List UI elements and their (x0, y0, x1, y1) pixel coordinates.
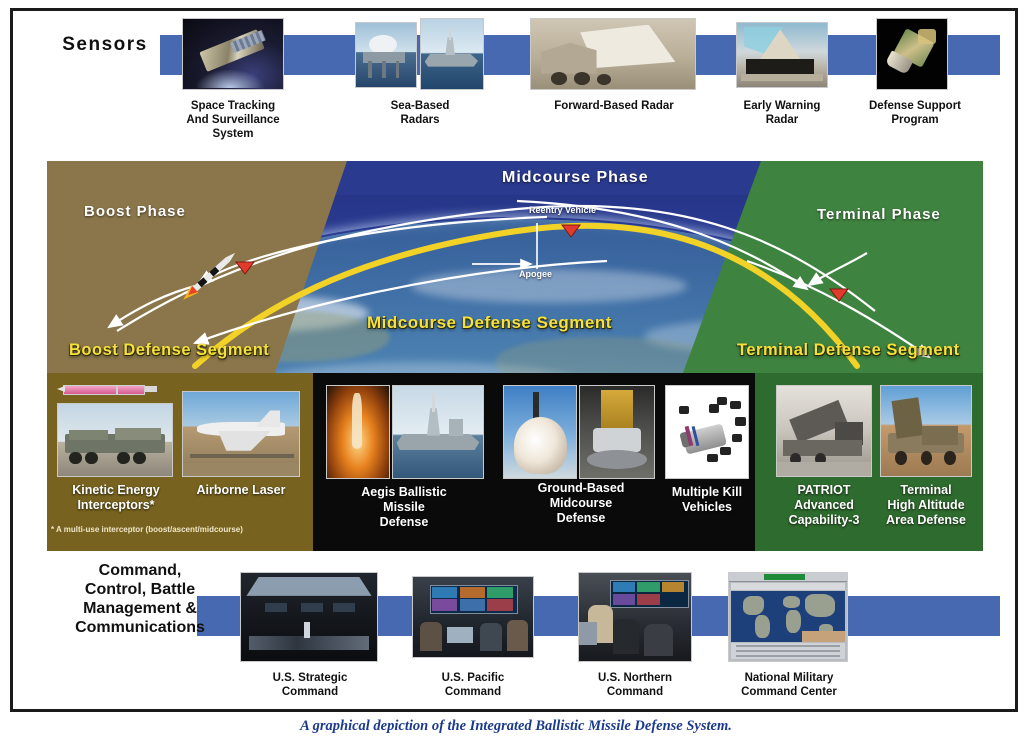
sea-based-x-band-radar-photo (356, 23, 416, 87)
segment-photo-aegis-cruiser (392, 385, 484, 479)
intercept-arrow-terminal-2 (809, 253, 867, 285)
c2bmc-caption-pacom: U.S. Pacific Command (405, 672, 541, 700)
c2bmc-photo-pacom (412, 576, 534, 658)
c2bmc-photo-nmcc (728, 572, 848, 662)
c2bmc-caption-nmcc: National Military Command Center (716, 672, 862, 700)
an-tpy-2-forward-based-radar-photo (531, 19, 695, 89)
boost-phase-label: Boost Phase (84, 203, 186, 220)
segment-caption-aegis-bmd: Aegis Ballistic Missile Defense (319, 485, 489, 530)
dsp-satellite-photo (877, 19, 947, 89)
satellite-in-space-photo (183, 19, 283, 89)
sensor-photo-forward-based-radar (530, 18, 696, 90)
sensor-photo-space-tracking (182, 18, 284, 90)
segment-caption-airborne-laser: Airborne Laser (180, 483, 302, 498)
boosting-missile (180, 249, 239, 303)
sm-3-launch-photo (327, 386, 389, 478)
segment-photo-gbi-launch (503, 385, 577, 479)
sensor-caption-early-warning-radar: Early Warning Radar (722, 100, 842, 128)
midcourse-phase-label: Midcourse Phase (502, 169, 649, 187)
pacom-operations-floor-photo (413, 577, 533, 657)
nmcc-world-map-display-photo (729, 573, 847, 661)
midcourse-defense-segment-label: Midcourse Defense Segment (367, 313, 612, 333)
apogee-label: Apogee (519, 269, 552, 279)
midcourse-defense-segment-panel: Aegis Ballistic Missile Defense Ground-B… (310, 373, 758, 551)
terminal-defense-segment-panel: PATRIOT Advanced Capability-3 Terminal H… (758, 373, 983, 551)
gbi-launch-photo (504, 386, 576, 478)
segment-photo-airborne-laser (182, 391, 300, 477)
sensor-photo-early-warning-radar (736, 22, 828, 88)
kei-footnote: * A multi-use interceptor (boost/ascent/… (51, 525, 301, 534)
c2bmc-caption-stratcom: U.S. Strategic Command (232, 672, 388, 700)
stratcom-command-center-photo (241, 573, 377, 661)
thaad-launcher-photo (881, 386, 971, 476)
aegis-cruiser-photo (393, 386, 483, 478)
terminal-defense-segment-label: Terminal Defense Segment (737, 341, 960, 360)
kei-interceptor-and-launcher-photo (58, 404, 172, 476)
segment-caption-patriot: PATRIOT Advanced Capability-3 (768, 483, 880, 528)
sensor-photo-sea-based-radar (355, 22, 417, 88)
segment-caption-thaad: Terminal High Altitude Area Defense (870, 483, 982, 528)
airborne-laser-747-photo (183, 392, 299, 476)
figure-caption: A graphical depiction of the Integrated … (0, 718, 1032, 735)
intercept-arrow-boost-1 (199, 217, 547, 283)
bmds-diagram-page: Sensors Space Tracking And Surveillance … (0, 0, 1032, 750)
boost-defense-segment-panel: Kinetic Energy Interceptors* * A multi-u… (47, 373, 310, 551)
multiple-kill-vehicles-concept-photo (666, 386, 748, 478)
defense-segments-strip: Kinetic Energy Interceptors* * A multi-u… (47, 373, 983, 551)
segment-caption-mkv: Multiple Kill Vehicles (659, 485, 755, 515)
segment-caption-kei: Kinetic Energy Interceptors* (49, 483, 183, 513)
reentry-vehicle-label: Reentry Vehicle (529, 205, 596, 215)
trajectory-scene: Midcourse Phase Boost Phase Terminal Pha… (47, 161, 983, 373)
sensor-photo-dsp (876, 18, 948, 90)
aegis-destroyer-at-sea-photo (421, 19, 483, 89)
northcom-watch-floor-photo (579, 573, 691, 661)
c2bmc-row-label: Command, Control, Battle Management & Co… (40, 562, 240, 638)
kei-interceptor-diagram (57, 381, 161, 397)
segment-photo-thaad (880, 385, 972, 477)
segment-photo-kei (57, 403, 173, 477)
sensor-caption-dsp: Defense Support Program (855, 100, 975, 128)
c2bmc-photo-stratcom (240, 572, 378, 662)
patriot-pac-3-launcher-photo (777, 386, 871, 476)
sensor-photo-aegis-destroyer (420, 18, 484, 90)
interceptor-marker-boost (236, 262, 254, 274)
segment-photo-mkv (665, 385, 749, 479)
gbi-silo-photo (580, 386, 654, 478)
segment-photo-patriot (776, 385, 872, 477)
segment-photo-gbi-silo (579, 385, 655, 479)
segment-photo-sm3-launch (326, 385, 390, 479)
sensor-caption-forward-based-radar: Forward-Based Radar (528, 100, 700, 114)
intercept-arrow-boost-3 (109, 285, 199, 327)
segment-caption-gmd: Ground-Based Midcourse Defense (495, 481, 667, 526)
c2bmc-photo-northcom (578, 572, 692, 662)
boost-defense-segment-label: Boost Defense Segment (69, 341, 269, 360)
sensor-caption-space-tracking: Space Tracking And Surveillance System (165, 100, 301, 141)
c2bmc-caption-northcom: U.S. Northern Command (567, 672, 703, 700)
sensor-caption-sea-based-radars: Sea-Based Radars (355, 100, 485, 128)
interceptor-marker-midcourse (562, 225, 580, 237)
sensors-row-label: Sensors (45, 34, 165, 56)
upgraded-early-warning-radar-photo (737, 23, 827, 87)
terminal-phase-label: Terminal Phase (817, 206, 941, 223)
